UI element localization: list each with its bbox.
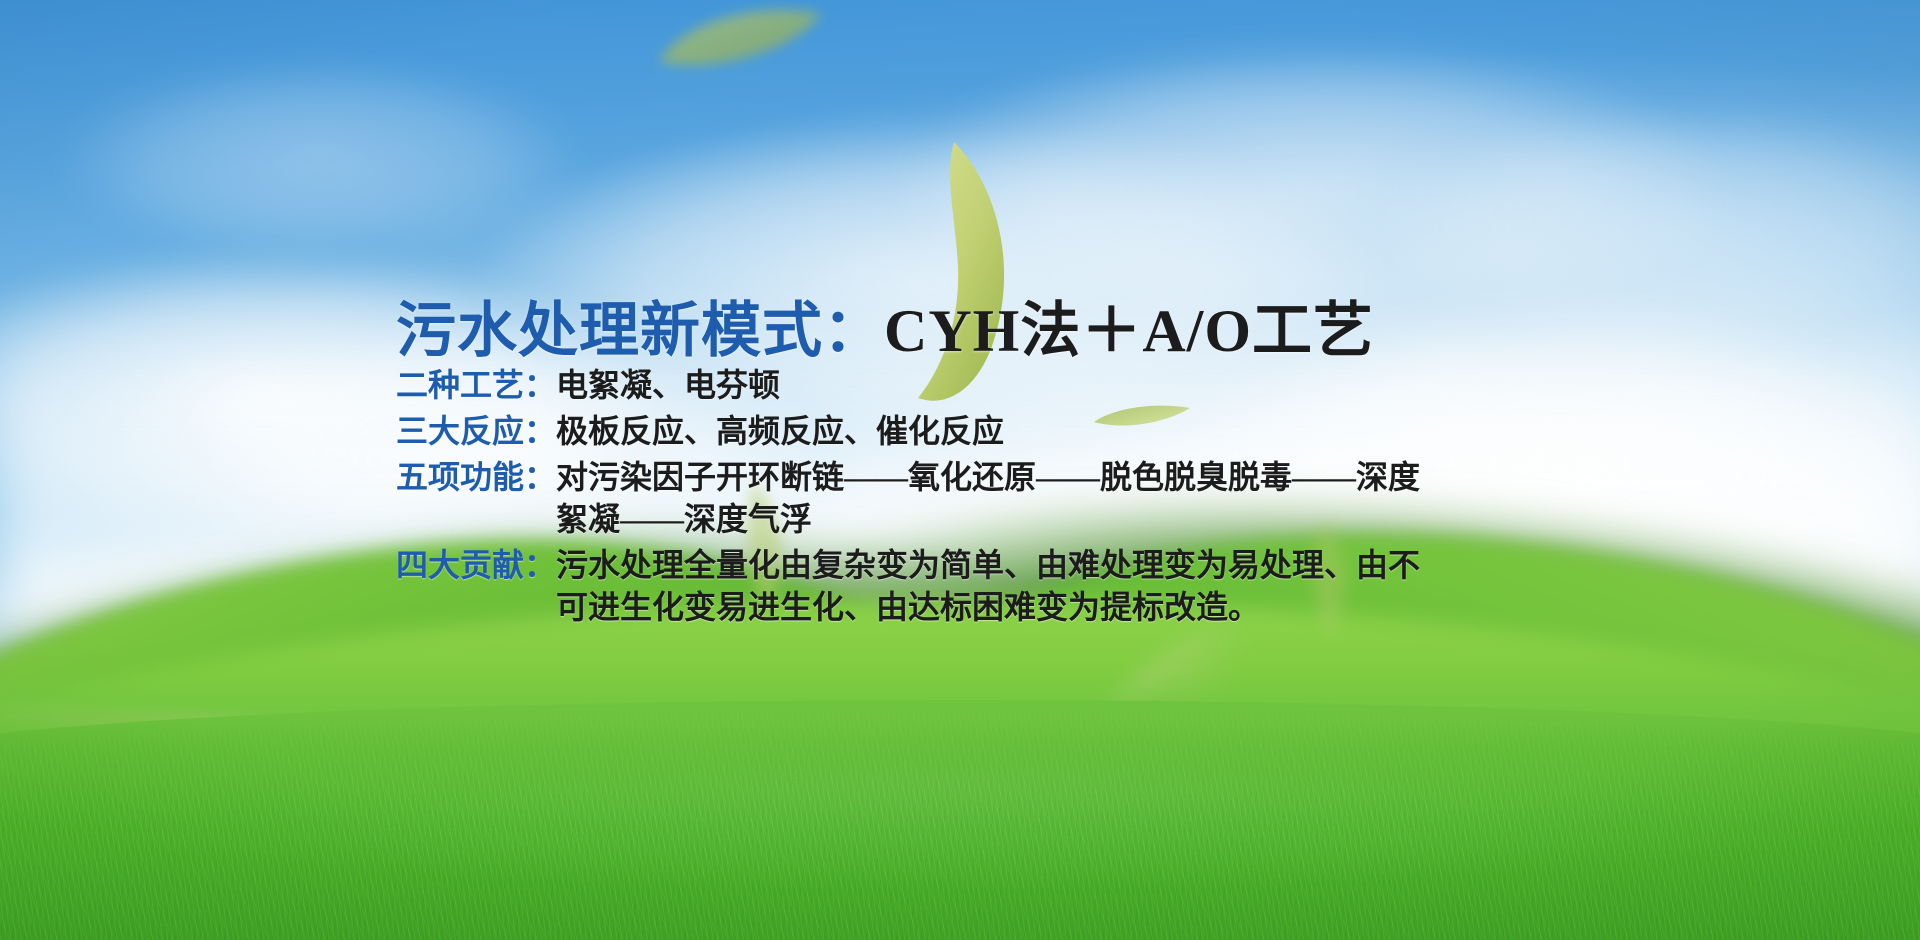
body-line-value: 极板反应、高频反应、催化反应	[556, 410, 1456, 452]
slide-title: 污水处理新模式：CYH法＋A/O工艺	[396, 282, 1374, 369]
body-line-value: 电絮凝、电芬顿	[556, 364, 1456, 406]
body-line: 五项功能： 对污染因子开环断链——氧化还原——脱色脱臭脱毒——深度絮凝——深度气…	[396, 456, 1456, 540]
body-line-label: 二种工艺：	[396, 364, 556, 406]
slide-title-secondary: CYH法＋A/O工艺	[884, 298, 1374, 364]
body-line-value: 污水处理全量化由复杂变为简单、由难处理变为易处理、由不可进生化变易进生化、由达标…	[556, 544, 1436, 628]
body-line-value: 对污染因子开环断链——氧化还原——脱色脱臭脱毒——深度絮凝——深度气浮	[556, 456, 1436, 540]
presentation-slide: 污水处理新模式：CYH法＋A/O工艺 二种工艺： 电絮凝、电芬顿 三大反应： 极…	[0, 0, 1920, 940]
body-line: 四大贡献： 污水处理全量化由复杂变为简单、由难处理变为易处理、由不可进生化变易进…	[396, 544, 1456, 628]
body-line-label: 五项功能：	[396, 456, 556, 498]
slide-body: 二种工艺： 电絮凝、电芬顿 三大反应： 极板反应、高频反应、催化反应 五项功能：…	[396, 364, 1456, 632]
body-line-label: 三大反应：	[396, 410, 556, 452]
lawn-blur-edge	[0, 690, 1920, 810]
body-line: 二种工艺： 电絮凝、电芬顿	[396, 364, 1456, 406]
slide-title-primary: 污水处理新模式：	[396, 298, 884, 364]
body-line-label: 四大贡献：	[396, 544, 556, 586]
body-line: 三大反应： 极板反应、高频反应、催化反应	[396, 410, 1456, 452]
